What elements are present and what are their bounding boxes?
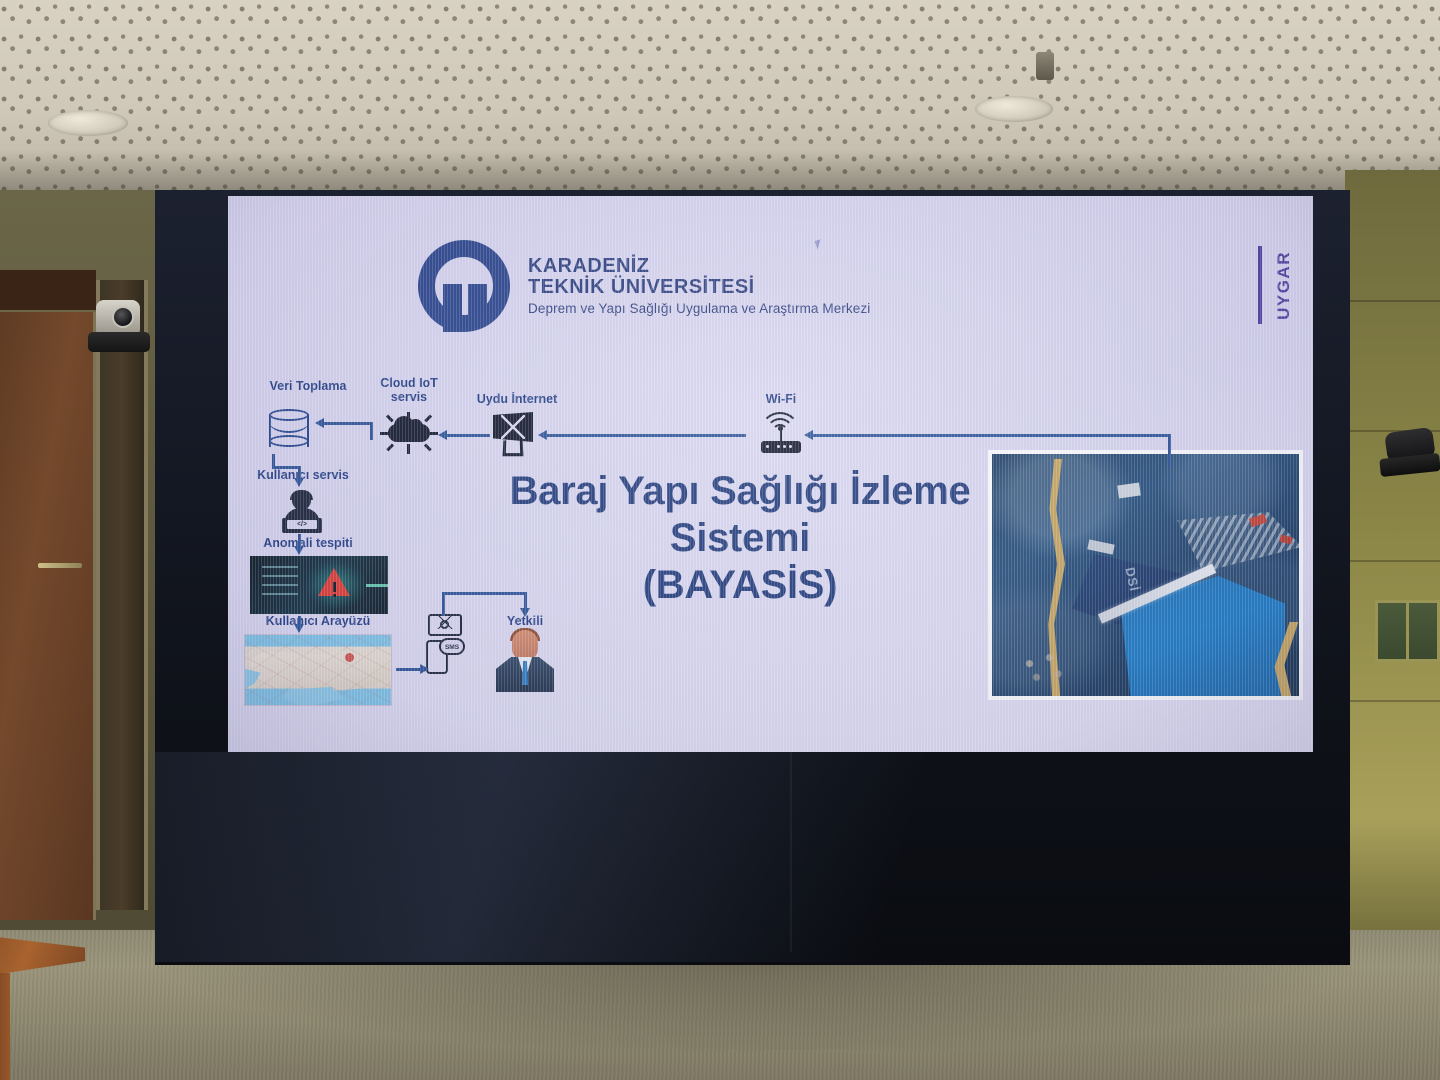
label-veri-toplama: Veri Toplama <box>248 379 368 393</box>
satellite-dish-icon <box>491 410 539 458</box>
title-line-1: Baraj Yapı Sağlığı İzleme <box>490 468 990 515</box>
flow-wifi-to-dish <box>546 434 746 437</box>
camera-base <box>88 332 150 352</box>
room-door[interactable] <box>0 270 96 920</box>
warning-exclamation-dot <box>333 594 336 597</box>
university-line-2: TEKNİK ÜNİVERSİTESİ <box>528 277 870 299</box>
developer-code-screen: </> <box>287 520 317 529</box>
door-top-panel <box>0 270 96 312</box>
sms-email-icon: SMS <box>424 614 464 676</box>
cloud-spoke-se <box>424 444 431 451</box>
person-head <box>512 630 538 660</box>
arrow-into-anomali <box>294 546 304 555</box>
flow-sms-up <box>442 592 445 616</box>
right-wall-seam-1 <box>1345 300 1440 302</box>
label-cloud-iot-servis: Cloud IoT servis <box>366 376 452 405</box>
flow-cloud-to-db-horizontal <box>323 422 373 425</box>
projected-slide[interactable]: KARADENİZ TEKNİK ÜNİVERSİTESİ Deprem ve … <box>228 196 1313 752</box>
flow-photo-to-wifi-horizontal <box>812 434 1170 437</box>
right-wall-seam-3 <box>1345 560 1440 562</box>
anomaly-dashboard-image <box>250 556 388 614</box>
uygar-badge: UYGAR <box>1258 246 1294 324</box>
dish-bowl <box>493 412 533 442</box>
cloud-spoke-n <box>407 412 410 422</box>
table-leg <box>0 973 10 1080</box>
developer-icon: </> <box>278 491 326 535</box>
ceiling-speaker-right <box>975 96 1053 122</box>
label-anomali-tespiti: Anomali tespiti <box>248 536 368 550</box>
flow-sms-to-yetkili-horizontal <box>442 592 526 595</box>
ptz-camera-left <box>88 300 150 358</box>
slide-title: Baraj Yapı Sağlığı İzleme Sistemi (BAYAS… <box>490 468 990 610</box>
flow-arayuzu-to-sms <box>396 668 422 671</box>
uygar-label: UYGAR <box>1274 251 1294 320</box>
anomaly-chart-rows <box>262 566 298 602</box>
screen-light-sheen <box>155 752 1350 962</box>
cloud-spoke-sw <box>386 444 393 451</box>
label-uydu-internet: Uydu İnternet <box>458 392 576 406</box>
router-led-1 <box>766 445 769 448</box>
camera-head <box>96 300 140 334</box>
arrow-into-database <box>315 418 324 428</box>
uygar-divider <box>1258 246 1262 324</box>
db-bottom <box>269 435 309 447</box>
warning-exclamation <box>333 582 336 592</box>
arrow-into-arayuzu <box>294 624 304 633</box>
university-line-1: KARADENİZ <box>528 256 870 278</box>
map-location-pin-icon[interactable] <box>345 653 354 662</box>
arrow-into-cloud <box>438 430 447 440</box>
center-name: Deprem ve Yapı Sağlığı Uygulama ve Araşt… <box>528 302 870 317</box>
right-wall <box>1345 170 1440 960</box>
arrow-into-kullanici-servis <box>294 478 304 487</box>
wifi-antenna-stem <box>780 428 782 442</box>
turkey-map-image <box>244 634 392 706</box>
cloud-iot-icon <box>380 412 438 454</box>
dam-satellite-photo: DSİ <box>988 450 1303 700</box>
satellite-village <box>1016 650 1070 684</box>
router-led-3 <box>783 445 786 448</box>
arrow-into-wifi <box>804 430 813 440</box>
ptz-camera-right <box>1380 430 1440 482</box>
cloud-spoke-ne <box>424 415 431 422</box>
ceiling-speaker-left <box>48 110 128 136</box>
logo-ring <box>418 240 510 332</box>
university-logo-block: KARADENİZ TEKNİK ÜNİVERSİTESİ Deprem ve … <box>418 240 870 332</box>
dish-stand <box>503 440 524 456</box>
presentation-room-scene: KARADENİZ TEKNİK ÜNİVERSİTESİ Deprem ve … <box>0 0 1440 1080</box>
cloud-spoke-s <box>407 444 410 454</box>
anomaly-indicator-bar <box>366 584 388 587</box>
arrow-into-yetkili <box>520 608 530 617</box>
title-line-3: (BAYASİS) <box>490 562 990 609</box>
flow-cloud-to-db-vertical <box>370 422 373 440</box>
cloud-spoke-w <box>380 432 389 435</box>
left-wall-recess <box>96 280 148 910</box>
right-wall-window <box>1375 600 1440 662</box>
logo-bar-right <box>468 284 487 326</box>
university-name-text: KARADENİZ TEKNİK ÜNİVERSİTESİ Deprem ve … <box>528 256 870 317</box>
wooden-table <box>0 935 85 1080</box>
arrow-into-sms <box>420 664 429 674</box>
ktu-logo-icon <box>418 240 510 332</box>
official-person-icon <box>496 630 554 692</box>
label-kullanici-arayuzu: Kullanıcı Arayüzü <box>238 614 398 628</box>
router-led-4 <box>789 445 792 448</box>
ceiling-sensor-icon <box>1036 52 1054 80</box>
arrow-into-dish <box>538 430 547 440</box>
table-top <box>0 935 85 977</box>
cloud-puff-2 <box>408 419 423 434</box>
cloud-spoke-nw <box>386 415 393 422</box>
logo-bar-left <box>443 284 462 332</box>
camera-lens-icon <box>112 306 134 328</box>
label-wifi: Wi-Fi <box>745 392 817 406</box>
right-wall-seam-4 <box>1345 700 1440 702</box>
flow-dish-to-cloud <box>446 434 490 437</box>
database-icon <box>269 409 309 451</box>
flow-db-right <box>272 466 300 469</box>
envelope-badge <box>440 620 449 629</box>
wifi-router-icon <box>758 408 804 456</box>
sms-bubble-icon: SMS <box>439 638 465 655</box>
door-handle[interactable] <box>38 563 82 568</box>
router-led-2 <box>777 445 780 448</box>
flow-photo-to-wifi-vertical <box>1168 434 1171 466</box>
cloud-spoke-e <box>429 432 438 435</box>
title-line-2: Sistemi <box>490 515 990 562</box>
